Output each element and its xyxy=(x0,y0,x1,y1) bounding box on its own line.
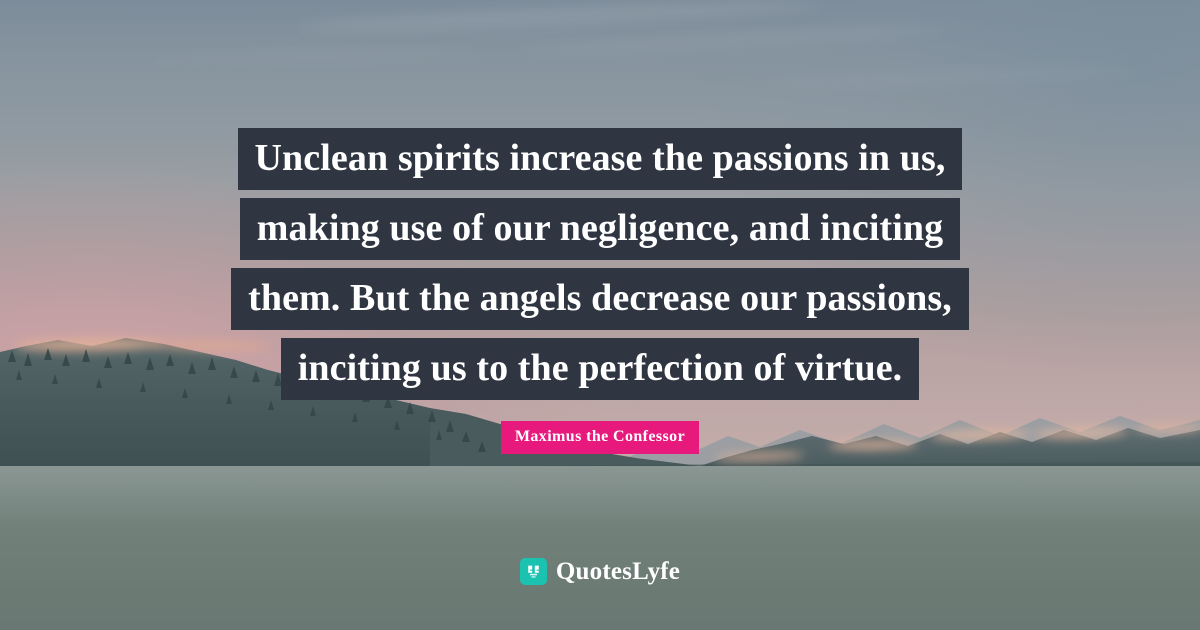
brand-logo[interactable]: QuotesLyfe xyxy=(0,558,1200,585)
water-sheen xyxy=(0,466,1200,526)
quote-line: inciting us to the perfection of virtue. xyxy=(281,338,920,400)
quote-line: Unclean spirits increase the passions in… xyxy=(238,128,963,190)
quote-line: them. But the angels decrease our passio… xyxy=(231,268,969,330)
author-block: Maximus the Confessor xyxy=(0,421,1200,454)
quote-badge-icon xyxy=(520,558,547,585)
quote-line: making use of our negligence, and inciti… xyxy=(240,198,961,260)
brand-name: QuotesLyfe xyxy=(556,559,680,584)
quote-block: Unclean spirits increase the passions in… xyxy=(0,128,1200,408)
author-name: Maximus the Confessor xyxy=(501,421,699,454)
